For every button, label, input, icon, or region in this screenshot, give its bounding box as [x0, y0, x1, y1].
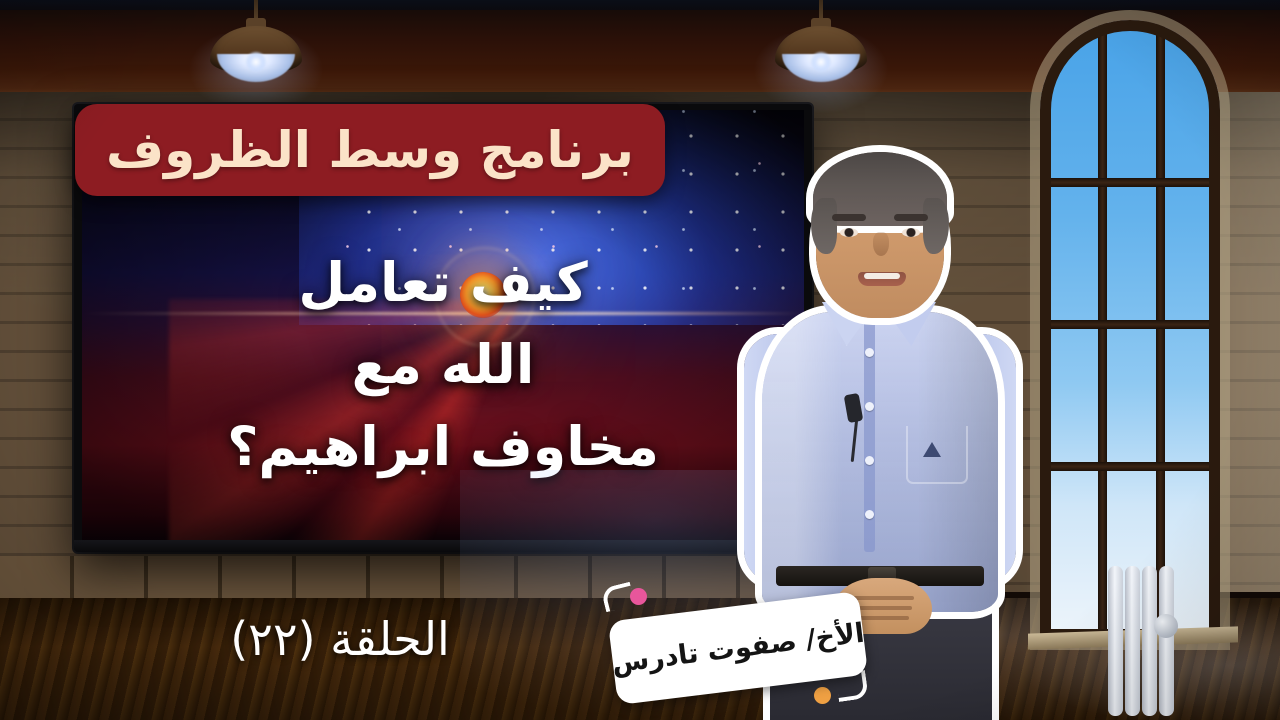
presenter-mouth	[858, 272, 906, 286]
presenter-shirt-button	[865, 402, 874, 411]
ceiling-strip	[0, 0, 1280, 10]
window-mullion-vertical	[1098, 20, 1107, 640]
presenter-eyebrow-left	[832, 214, 866, 221]
presenter-shirt-button	[865, 510, 874, 519]
window-mullion-vertical	[1156, 20, 1165, 640]
radiator-column	[1108, 566, 1123, 716]
screen-headline-line-3: مخاوف ابراهيم؟	[82, 406, 804, 488]
presenter-eye-left	[840, 228, 858, 237]
program-title-banner: برنامج وسط الظروف	[75, 104, 665, 196]
pendant-lamp-left-icon	[210, 0, 302, 84]
presenter-eyebrow-right	[894, 214, 928, 221]
episode-label: الحلقة (٢٢)	[180, 612, 500, 666]
presenter-nose	[873, 232, 889, 256]
screen-headline-line-1: كيف تعامل	[82, 242, 804, 324]
label-decor-dot-orange-icon	[814, 687, 831, 704]
label-decor-dot-pink-icon	[630, 588, 647, 605]
presenter-shirt-button	[865, 348, 874, 357]
presenter-shirt-logo-icon	[923, 442, 941, 457]
presenter-hair-side-left	[811, 198, 837, 254]
window-mullion-horizontal	[1040, 178, 1220, 187]
window-mullion-horizontal	[1040, 462, 1220, 471]
window-mullion-horizontal	[1040, 320, 1220, 329]
presenter-eye-right	[902, 228, 920, 237]
lamp-bulb	[811, 52, 831, 72]
radiator-icon	[1108, 566, 1186, 720]
presenter-name-text: الأخ/ صفوت تادرس	[610, 617, 866, 679]
window-sky	[1050, 30, 1210, 640]
radiator-column	[1159, 566, 1174, 716]
program-title-text: برنامج وسط الظروف	[106, 121, 634, 179]
screen-bezel-bottom	[74, 540, 812, 552]
radiator-column	[1142, 566, 1157, 716]
presenter-teeth	[864, 273, 900, 279]
radiator-column	[1125, 566, 1140, 716]
radiator-valve-knob	[1154, 614, 1178, 638]
lamp-bulb	[246, 52, 266, 72]
screen-headline: كيف تعامل الله مع مخاوف ابراهيم؟	[82, 242, 804, 488]
pendant-lamp-right-icon	[775, 0, 867, 84]
screen-headline-line-2: الله مع	[82, 324, 804, 406]
presenter-shirt-button	[865, 456, 874, 465]
video-thumbnail-stage: كيف تعامل الله مع مخاوف ابراهيم؟ برنامج …	[0, 0, 1280, 720]
window-arch	[1040, 20, 1220, 640]
presenter-hair-side-right	[923, 198, 949, 254]
arched-window-icon	[1040, 20, 1220, 640]
